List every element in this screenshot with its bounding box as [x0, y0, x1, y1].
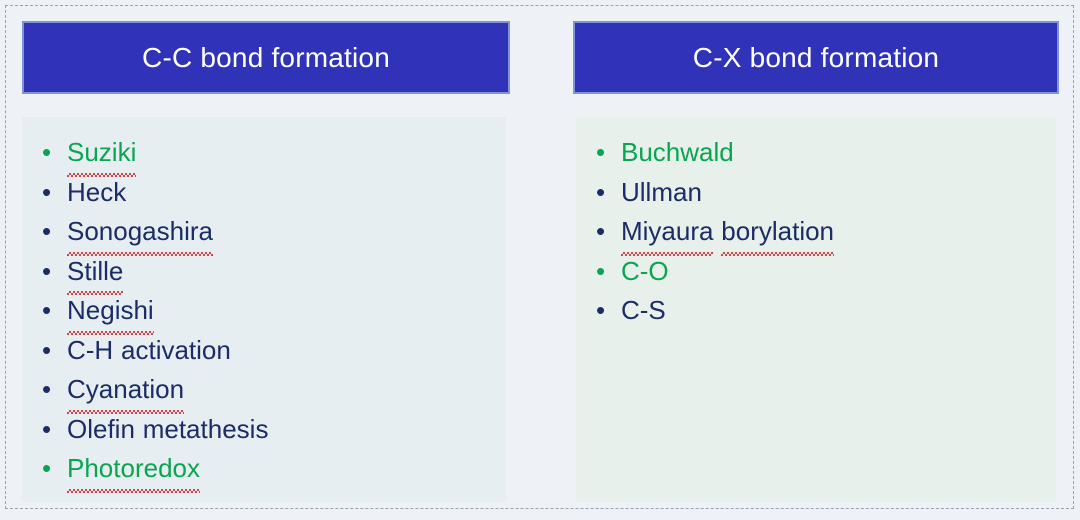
word: C-H	[67, 331, 113, 371]
list-item[interactable]: •Buchwald	[596, 133, 1056, 173]
list-item-label: Cyanation	[67, 374, 184, 404]
bullet-list-c-x: •Buchwald•Ullman•Miyaura borylation•C-O•…	[576, 133, 1056, 331]
bullet-icon: •	[42, 370, 67, 410]
list-item-label: C-S	[621, 295, 666, 325]
list-item[interactable]: •Negishi	[42, 291, 506, 331]
bullet-icon: •	[42, 331, 67, 371]
list-item[interactable]: •C-H activation	[42, 331, 506, 371]
bullet-icon: •	[42, 133, 67, 173]
list-item[interactable]: •Miyaura borylation	[596, 212, 1056, 252]
list-item[interactable]: •Sonogashira	[42, 212, 506, 252]
word-space	[713, 212, 721, 252]
list-item-label: Sonogashira	[67, 216, 213, 246]
list-item-label: Buchwald	[621, 137, 734, 167]
misspelled-word: Cyanation	[67, 370, 184, 410]
column-body-c-c[interactable]: •Suziki•Heck•Sonogashira•Stille•Negishi•…	[22, 117, 506, 502]
column-header-label-c-c: C-C bond formation	[142, 44, 390, 72]
list-item-label: Ullman	[621, 177, 702, 207]
word: C-S	[621, 291, 666, 331]
misspelled-word: Miyaura	[621, 212, 713, 252]
word-space	[135, 410, 143, 450]
list-item[interactable]: •Ullman	[596, 173, 1056, 213]
list-item-label: C-O	[621, 256, 669, 286]
list-item[interactable]: •C-O	[596, 252, 1056, 292]
list-item[interactable]: •C-S	[596, 291, 1056, 331]
list-item-label: Suziki	[67, 137, 136, 167]
list-item-label: Stille	[67, 256, 123, 286]
misspelled-word: Sonogashira	[67, 212, 213, 252]
list-item[interactable]: •Heck	[42, 173, 506, 213]
misspelled-word: borylation	[721, 212, 834, 252]
misspelled-word: Stille	[67, 252, 123, 292]
word: Olefin	[67, 410, 135, 450]
list-item-label: Miyaura borylation	[621, 216, 834, 246]
bullet-icon: •	[42, 410, 67, 450]
list-item[interactable]: •Stille	[42, 252, 506, 292]
list-item-label: C-H activation	[67, 335, 231, 365]
misspelled-word: Negishi	[67, 291, 154, 331]
word: C-O	[621, 252, 669, 292]
bullet-icon: •	[596, 133, 621, 173]
bullet-icon: •	[596, 173, 621, 213]
list-item-label: Heck	[67, 177, 126, 207]
bullet-icon: •	[596, 252, 621, 292]
misspelled-word: Photoredox	[67, 449, 200, 489]
list-item-label: Photoredox	[67, 453, 200, 483]
column-body-c-x[interactable]: •Buchwald•Ullman•Miyaura borylation•C-O•…	[576, 117, 1056, 502]
word-space	[113, 331, 121, 371]
list-item-label: Negishi	[67, 295, 154, 325]
bullet-icon: •	[42, 173, 67, 213]
bullet-icon: •	[596, 291, 621, 331]
column-header-c-c[interactable]: C-C bond formation	[22, 21, 510, 94]
list-item[interactable]: •Suziki	[42, 133, 506, 173]
column-c-c: C-C bond formation •Suziki•Heck•Sonogash…	[6, 0, 534, 520]
list-item[interactable]: •Photoredox	[42, 449, 506, 489]
misspelled-word: Suziki	[67, 133, 136, 173]
bullet-icon: •	[42, 212, 67, 252]
list-item-label: Olefin metathesis	[67, 414, 268, 444]
bullet-icon: •	[42, 252, 67, 292]
word: Ullman	[621, 173, 702, 213]
column-header-label-c-x: C-X bond formation	[693, 44, 939, 72]
bullet-icon: •	[42, 291, 67, 331]
bullet-list-c-c: •Suziki•Heck•Sonogashira•Stille•Negishi•…	[22, 133, 506, 489]
slide-canvas: C-C bond formation •Suziki•Heck•Sonogash…	[0, 0, 1080, 520]
column-header-c-x[interactable]: C-X bond formation	[573, 21, 1059, 94]
column-c-x: C-X bond formation •Buchwald•Ullman•Miya…	[558, 0, 1074, 520]
word: Buchwald	[621, 133, 734, 173]
bullet-icon: •	[42, 449, 67, 489]
list-item[interactable]: •Cyanation	[42, 370, 506, 410]
bullet-icon: •	[596, 212, 621, 252]
word: Heck	[67, 173, 126, 213]
list-item[interactable]: •Olefin metathesis	[42, 410, 506, 450]
word: metathesis	[143, 410, 269, 450]
word: activation	[121, 331, 231, 371]
